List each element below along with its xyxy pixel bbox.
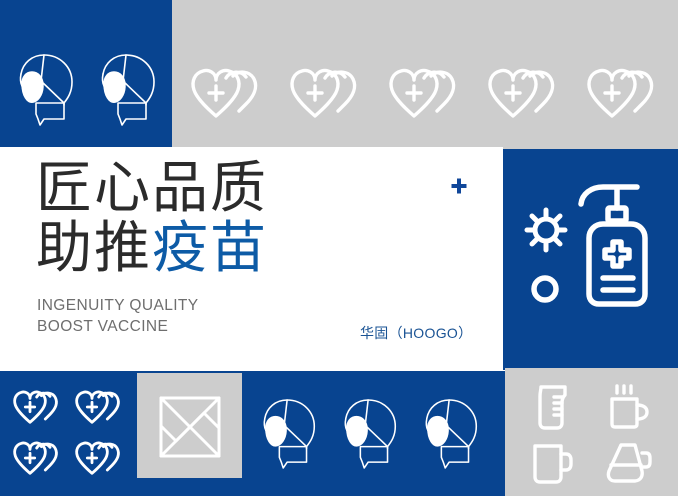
masked-head-icon xyxy=(339,394,405,474)
mug-icon xyxy=(520,438,586,488)
double-heart-plus-icon xyxy=(483,68,567,124)
top-double-heart-icon-row xyxy=(186,66,666,126)
double-heart-plus-icon xyxy=(70,384,130,433)
droplet-ring-icon xyxy=(529,273,561,305)
masked-head-icon xyxy=(96,51,164,129)
headline-line-2-accent: 疫苗 xyxy=(152,216,268,281)
double-heart-plus-icon xyxy=(285,68,369,124)
sanitizer-blue-panel xyxy=(503,149,678,370)
headline-card: 匠心品质 助推疫苗 INGENUITY QUALITY BOOST VACCIN… xyxy=(0,147,503,359)
double-heart-plus-icon xyxy=(582,68,666,124)
double-heart-plus-icon xyxy=(70,435,130,484)
masked-head-icon xyxy=(420,394,486,474)
brand-name: 华固（HOOGO） xyxy=(360,323,472,343)
carafe-icon xyxy=(596,438,662,488)
top-masked-head-icon-row xyxy=(14,50,164,130)
double-heart-plus-icon xyxy=(384,68,468,124)
bottom-double-heart-grid xyxy=(8,384,130,484)
masked-head-icon xyxy=(14,51,82,129)
virus-icon xyxy=(521,204,571,256)
sanitizer-bottle-icon xyxy=(575,182,653,312)
double-heart-plus-icon xyxy=(186,68,270,124)
bottom-masked-head-icon-row xyxy=(258,388,486,480)
headline-line-2: 助推疫苗 xyxy=(36,219,268,279)
bottom-vessel-icon-grid xyxy=(520,382,662,488)
double-heart-plus-icon xyxy=(8,435,68,484)
headline-line-1: 匠心品质 xyxy=(36,159,268,219)
poster-canvas: 匠心品质 助推疫苗 INGENUITY QUALITY BOOST VACCIN… xyxy=(0,0,678,496)
headline-line-2-black: 助推 xyxy=(36,216,152,281)
plus-icon xyxy=(450,177,468,195)
double-heart-plus-icon xyxy=(8,384,68,433)
measuring-beaker-icon xyxy=(520,382,586,432)
masked-head-icon xyxy=(258,394,324,474)
steaming-mug-icon xyxy=(596,382,662,432)
image-placeholder-icon xyxy=(159,396,221,458)
english-subtitle: INGENUITY QUALITY BOOST VACCINE xyxy=(37,295,199,337)
